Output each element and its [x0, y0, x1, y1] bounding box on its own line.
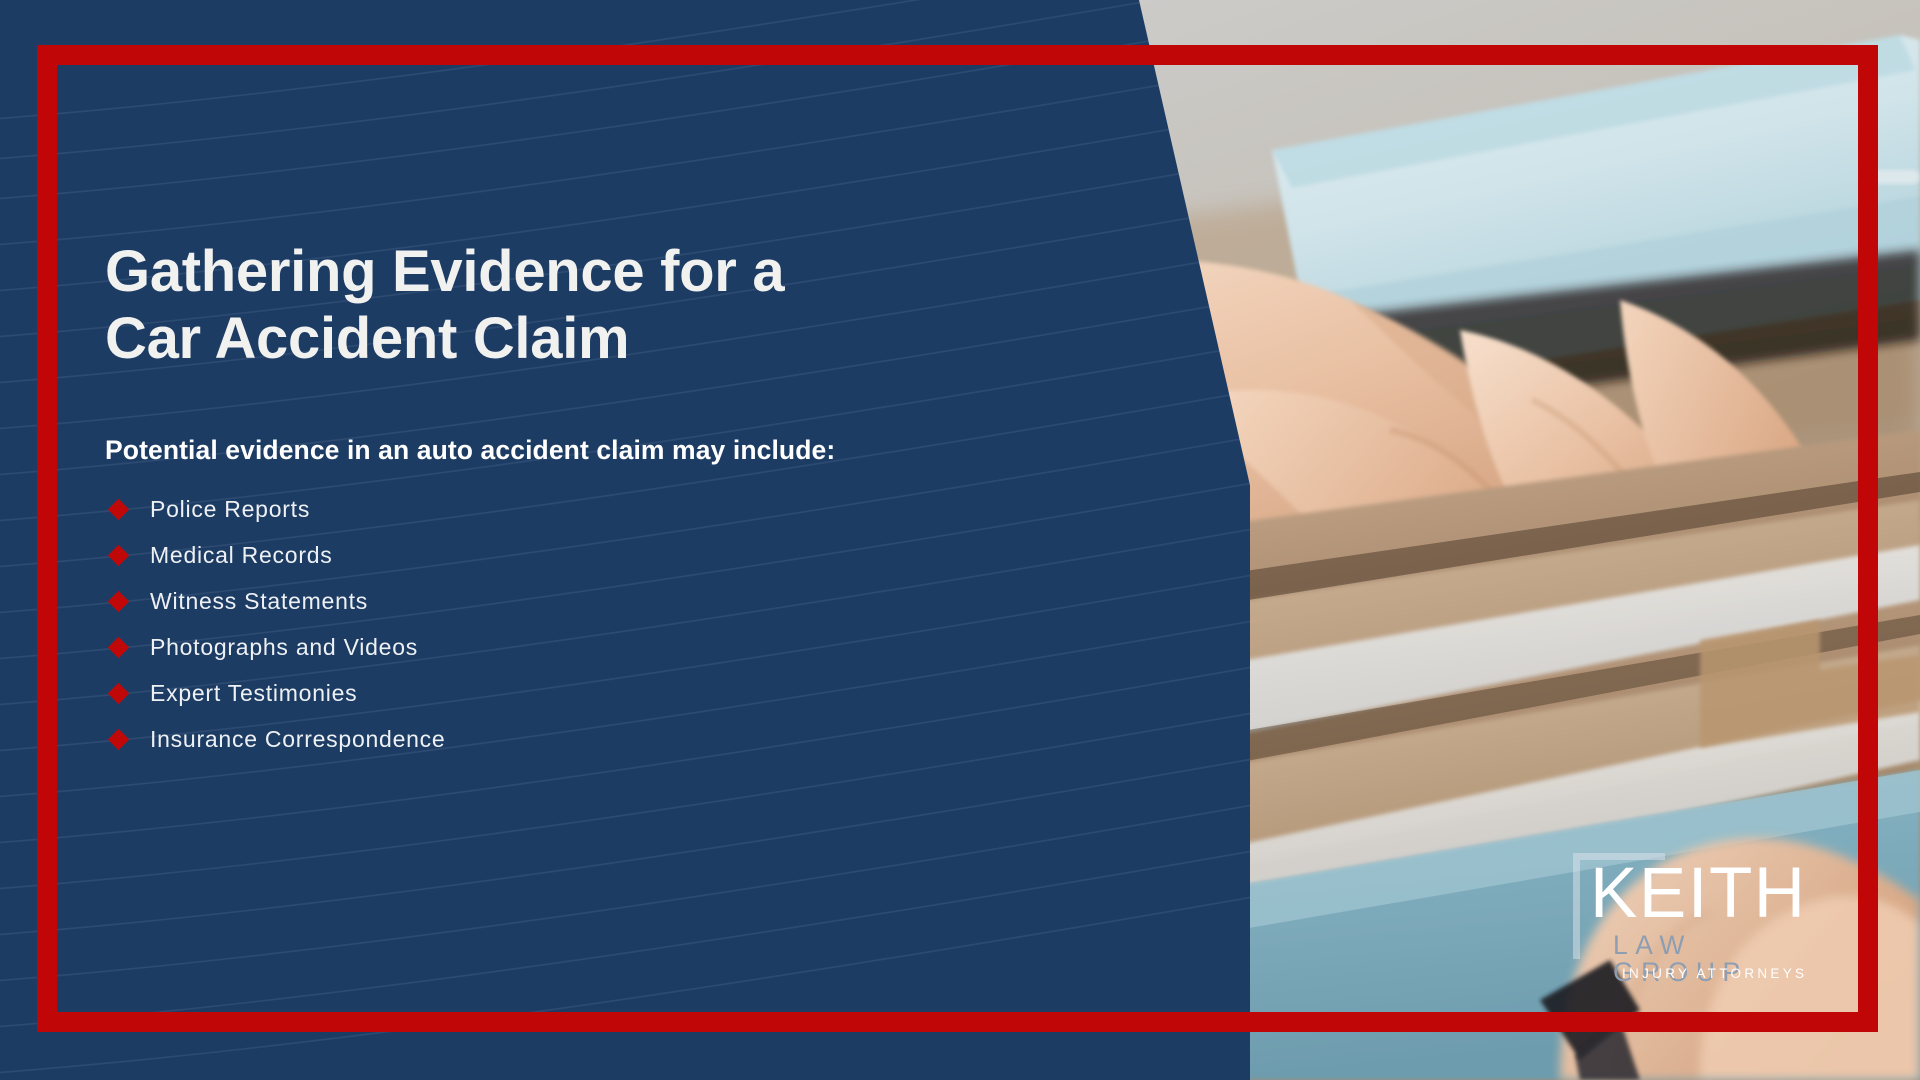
subheading: Potential evidence in an auto accident c…	[105, 435, 1065, 466]
logo-firm-name: KEITH	[1590, 858, 1807, 929]
keith-law-group-logo: KEITH LAW GROUP INJURY ATTORNEYS	[1573, 853, 1841, 993]
list-item: Medical Records	[105, 542, 1065, 569]
list-item-label: Medical Records	[150, 542, 333, 569]
diamond-bullet-icon	[108, 636, 129, 657]
logo-tagline: INJURY ATTORNEYS	[1622, 967, 1807, 981]
list-item-label: Witness Statements	[150, 588, 368, 615]
list-item-label: Expert Testimonies	[150, 680, 357, 707]
list-item-label: Insurance Correspondence	[150, 726, 445, 753]
headline-line-2: Car Accident Claim	[105, 305, 1065, 372]
diamond-bullet-icon	[108, 544, 129, 565]
list-item: Insurance Correspondence	[105, 726, 1065, 753]
diamond-bullet-icon	[108, 590, 129, 611]
diamond-bullet-icon	[108, 728, 129, 749]
infographic-canvas: Gathering Evidence for a Car Accident Cl…	[0, 0, 1920, 1080]
list-item: Photographs and Videos	[105, 634, 1065, 661]
list-item-label: Police Reports	[150, 496, 310, 523]
list-item: Police Reports	[105, 496, 1065, 523]
list-item-label: Photographs and Videos	[150, 634, 418, 661]
list-item: Expert Testimonies	[105, 680, 1065, 707]
evidence-list: Police Reports Medical Records Witness S…	[105, 496, 1065, 753]
list-item: Witness Statements	[105, 588, 1065, 615]
content-block: Gathering Evidence for a Car Accident Cl…	[105, 238, 1065, 772]
headline-line-1: Gathering Evidence for a	[105, 238, 1065, 305]
diamond-bullet-icon	[108, 498, 129, 519]
page-title: Gathering Evidence for a Car Accident Cl…	[105, 238, 1065, 373]
diamond-bullet-icon	[108, 682, 129, 703]
